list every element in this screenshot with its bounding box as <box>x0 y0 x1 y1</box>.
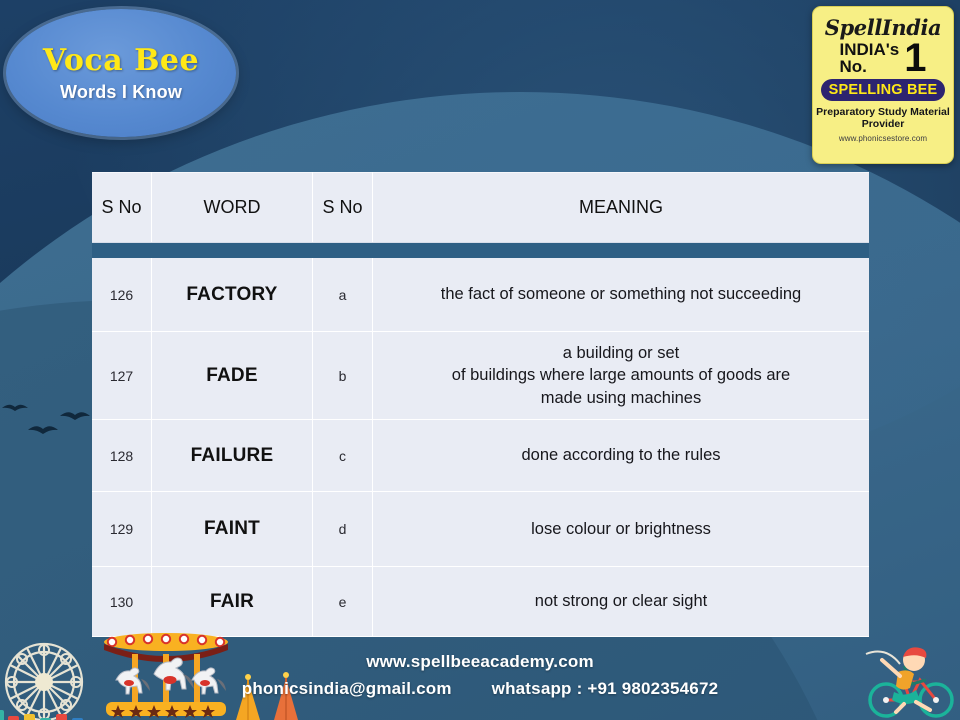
header-sno-left: S No <box>92 172 152 242</box>
row-sno: 127 <box>92 332 152 420</box>
meaning-lines: done according to the rules <box>379 444 863 466</box>
row-sno: 128 <box>92 420 152 492</box>
meaning-lines: a building or setof buildings where larg… <box>379 342 863 409</box>
badge-no-label: No. <box>839 58 899 75</box>
meaning-line: made using machines <box>541 387 702 409</box>
vocabulary-table: S No WORD S No MEANING 126 FACTORY a the… <box>92 172 869 637</box>
row-sno: 129 <box>92 492 152 567</box>
badge-indias-no: INDIA's No. <box>839 41 899 76</box>
table-header-row: S No WORD S No MEANING <box>92 172 869 242</box>
meaning-lines: lose colour or brightness <box>379 518 863 540</box>
badge-spelling-bee-band: SPELLING BEE <box>821 79 945 101</box>
row-meaning: done according to the rules <box>373 420 869 492</box>
row-letter: e <box>313 567 373 637</box>
voca-bee-logo: Voca Bee Words I Know <box>6 9 236 137</box>
header-separator-band <box>92 243 869 258</box>
meaning-line: done according to the rules <box>521 444 720 466</box>
table-row: 129 FAINT d lose colour or brightness <box>92 492 869 567</box>
meaning-lines: the fact of someone or something not suc… <box>379 283 863 305</box>
badge-rank-row: INDIA's No. 1 <box>813 41 953 76</box>
row-word: FAIR <box>152 567 313 637</box>
badge-tagline: Preparatory Study Material Provider <box>816 106 950 131</box>
carousel-icon <box>96 630 236 720</box>
meaning-line: a building or set <box>563 342 680 364</box>
badge-band-label: SPELLING BEE <box>829 82 938 98</box>
meaning-line: lose colour or brightness <box>531 518 711 540</box>
row-word: FADE <box>152 332 313 420</box>
row-meaning: the fact of someone or something not suc… <box>373 258 869 332</box>
badge-rank-number: 1 <box>904 41 926 75</box>
header-sno-right: S No <box>313 172 373 242</box>
meaning-lines: not strong or clear sight <box>379 590 863 612</box>
row-letter: a <box>313 258 373 332</box>
row-sno: 130 <box>92 567 152 637</box>
table-row: 126 FACTORY a the fact of someone or som… <box>92 258 869 332</box>
child-on-bicycle-icon <box>860 640 956 720</box>
circus-tent-icon <box>222 672 322 720</box>
table-row: 128 FAILURE c done according to the rule… <box>92 420 869 492</box>
row-meaning: lose colour or brightness <box>373 492 869 567</box>
logo-title: Voca Bee <box>43 46 199 76</box>
table-row: 127 FADE b a building or setof buildings… <box>92 332 869 420</box>
badge-url: www.phonicsestore.com <box>839 134 927 143</box>
row-word: FAILURE <box>152 420 313 492</box>
row-letter: b <box>313 332 373 420</box>
row-meaning: not strong or clear sight <box>373 567 869 637</box>
row-meaning: a building or setof buildings where larg… <box>373 332 869 420</box>
row-letter: d <box>313 492 373 567</box>
row-letter: c <box>313 420 373 492</box>
row-word: FACTORY <box>152 258 313 332</box>
header-meaning: MEANING <box>373 172 869 242</box>
badge-indias-label: INDIA's <box>839 41 899 58</box>
header-word: WORD <box>152 172 313 242</box>
spellindia-badge: SpellIndia INDIA's No. 1 SPELLING BEE Pr… <box>812 6 954 164</box>
meaning-line: the fact of someone or something not suc… <box>441 283 801 305</box>
slide-canvas: Voca Bee Words I Know SpellIndia INDIA's… <box>0 0 960 720</box>
logo-subtitle: Words I Know <box>60 83 182 101</box>
table-row: 130 FAIR e not strong or clear sight <box>92 567 869 637</box>
row-sno: 126 <box>92 258 152 332</box>
meaning-line: not strong or clear sight <box>535 590 707 612</box>
row-word: FAINT <box>152 492 313 567</box>
meaning-line: of buildings where large amounts of good… <box>452 364 790 386</box>
